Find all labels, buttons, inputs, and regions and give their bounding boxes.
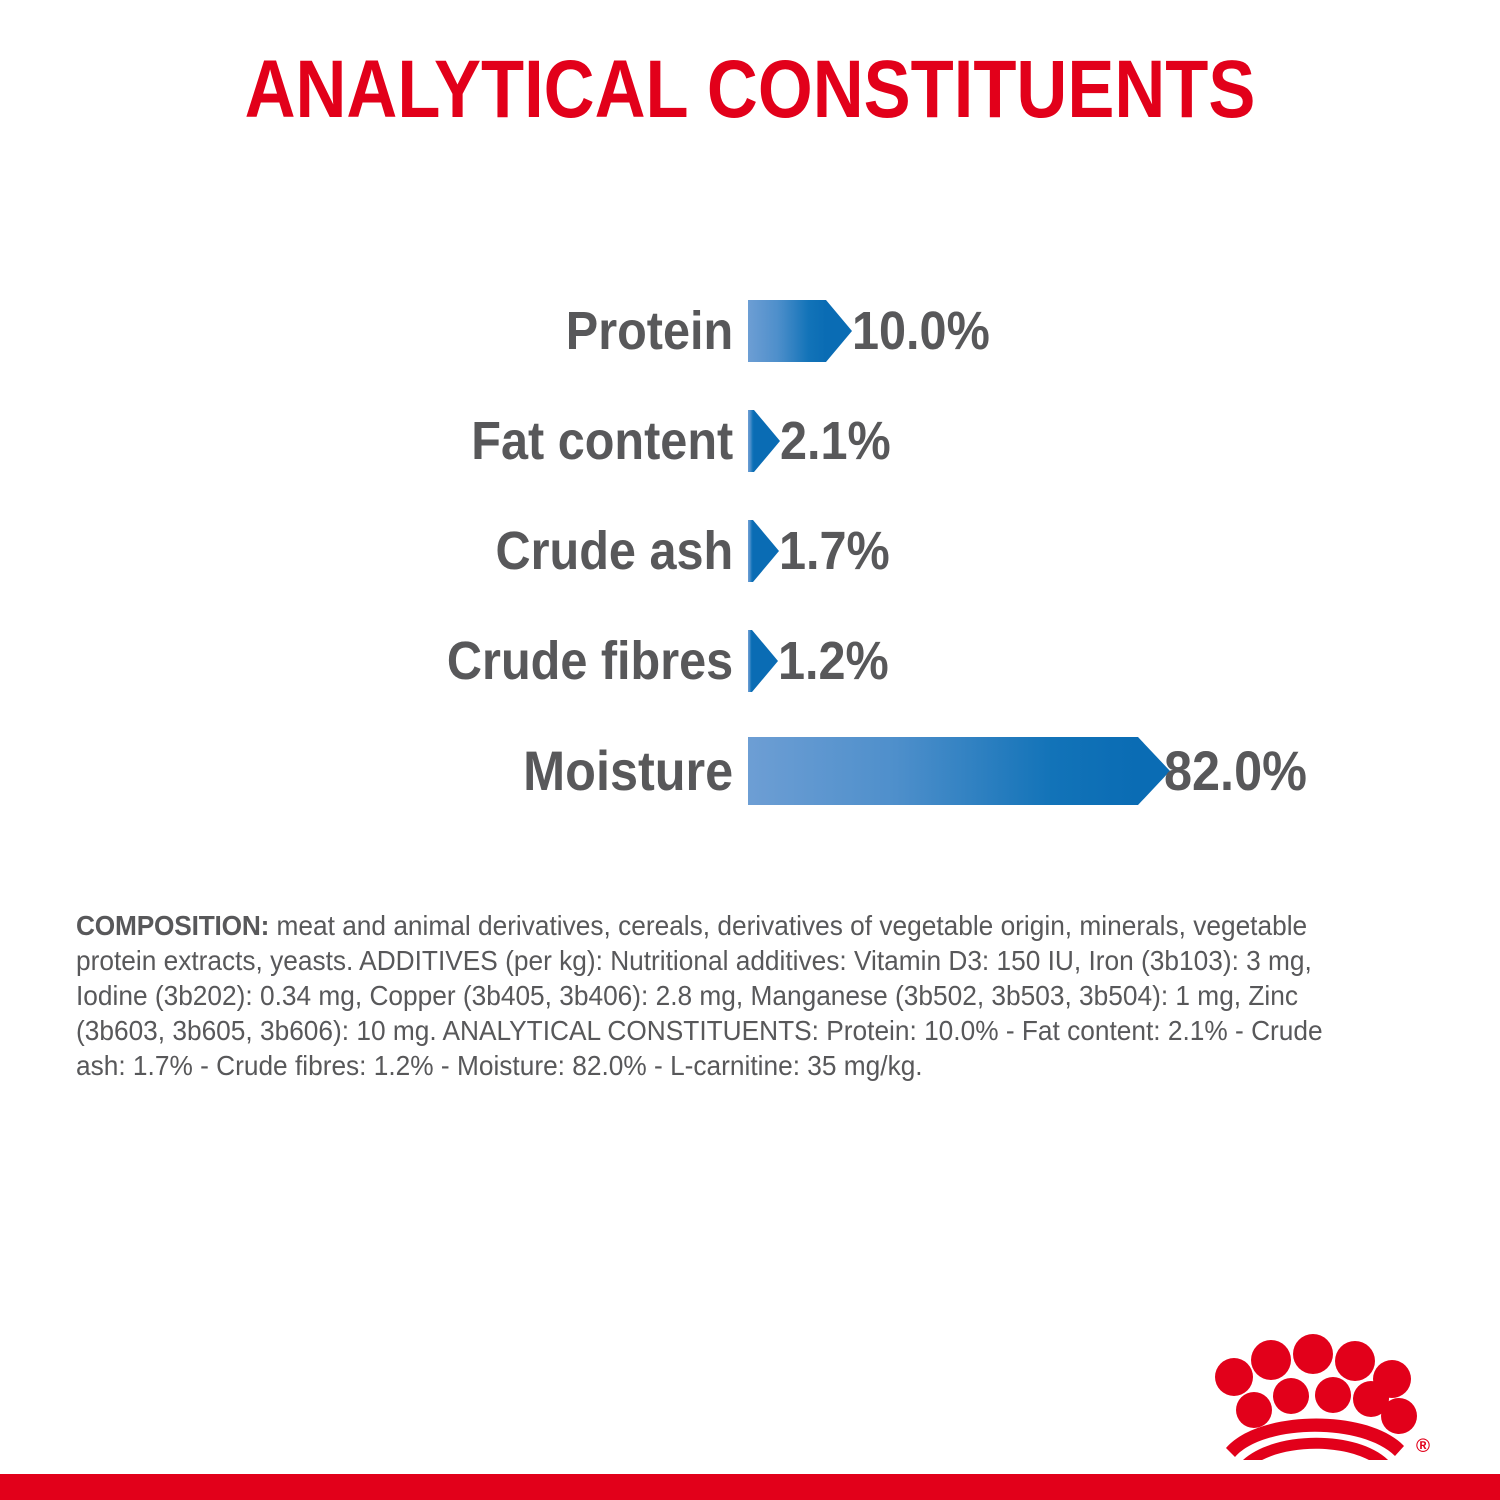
constituent-value: 10.0%	[852, 304, 990, 358]
constituent-bar-crude-fibres	[748, 630, 752, 692]
analytical-constituents-chart: Protein 10.0% Fat content 2.1% Crude ash…	[0, 276, 1500, 826]
constituent-bar-wrap	[748, 410, 754, 472]
royal-canin-crown-logo: ®	[1212, 1330, 1437, 1460]
constituent-bar-wrap	[748, 630, 752, 692]
constituent-label: Moisture	[74, 743, 736, 799]
constituent-bar-protein	[748, 300, 826, 362]
constituent-value: 82.0%	[1164, 743, 1307, 799]
constituent-bar-fat-content	[748, 410, 754, 472]
composition-paragraph: COMPOSITION: meat and animal derivatives…	[76, 908, 1363, 1083]
constituent-label: Crude fibres	[74, 634, 736, 688]
constituent-row-crude-ash: Crude ash 1.7%	[0, 496, 1500, 606]
constituent-row-crude-fibres: Crude fibres 1.2%	[0, 606, 1500, 716]
page-title: ANALYTICAL CONSTITUENTS	[105, 40, 1395, 140]
composition-heading: COMPOSITION:	[76, 910, 269, 941]
registered-trademark-icon: ®	[1416, 1436, 1430, 1457]
constituent-value: 1.7%	[779, 524, 890, 578]
constituent-bar-moisture	[748, 737, 1138, 805]
constituent-label: Fat content	[74, 414, 736, 468]
constituent-row-fat-content: Fat content 2.1%	[0, 386, 1500, 496]
constituent-value: 2.1%	[780, 414, 891, 468]
constituent-bar-crude-ash	[748, 520, 753, 582]
constituent-bar-wrap	[748, 520, 753, 582]
footer-red-band	[0, 1474, 1500, 1500]
constituent-row-protein: Protein 10.0%	[0, 276, 1500, 386]
constituent-bar-wrap	[748, 737, 1138, 805]
constituent-value: 1.2%	[778, 634, 889, 688]
constituent-row-moisture: Moisture 82.0%	[0, 716, 1500, 826]
constituent-label: Protein	[74, 304, 736, 358]
constituent-bar-wrap	[748, 300, 826, 362]
constituent-label: Crude ash	[74, 524, 736, 578]
